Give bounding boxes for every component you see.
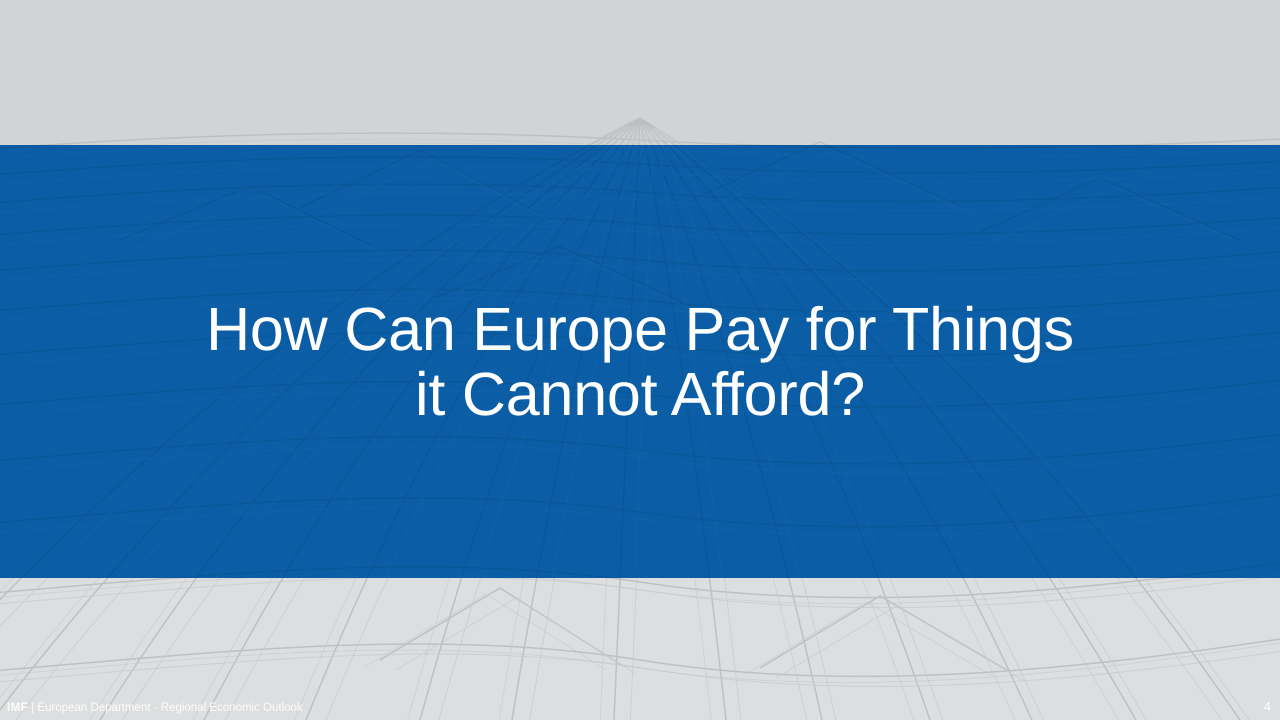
title-line-1: How Can Europe Pay for Things	[110, 297, 1170, 362]
imf-logo-text: IMF	[7, 702, 28, 714]
page-title: How Can Europe Pay for Things it Cannot …	[110, 297, 1170, 426]
presentation-slide: How Can Europe Pay for Things it Cannot …	[0, 0, 1280, 720]
footer-department-label: European Department - Regional Economic …	[37, 702, 302, 714]
page-number: 4	[1264, 699, 1271, 715]
slide-footer: IMF | European Department - Regional Eco…	[0, 698, 1280, 720]
footer-attribution: IMF | European Department - Regional Eco…	[7, 700, 303, 716]
title-line-2: it Cannot Afford?	[110, 362, 1170, 427]
top-gray-band	[0, 0, 1280, 145]
slide-title-container: How Can Europe Pay for Things it Cannot …	[0, 145, 1280, 578]
footer-separator: |	[28, 702, 37, 714]
